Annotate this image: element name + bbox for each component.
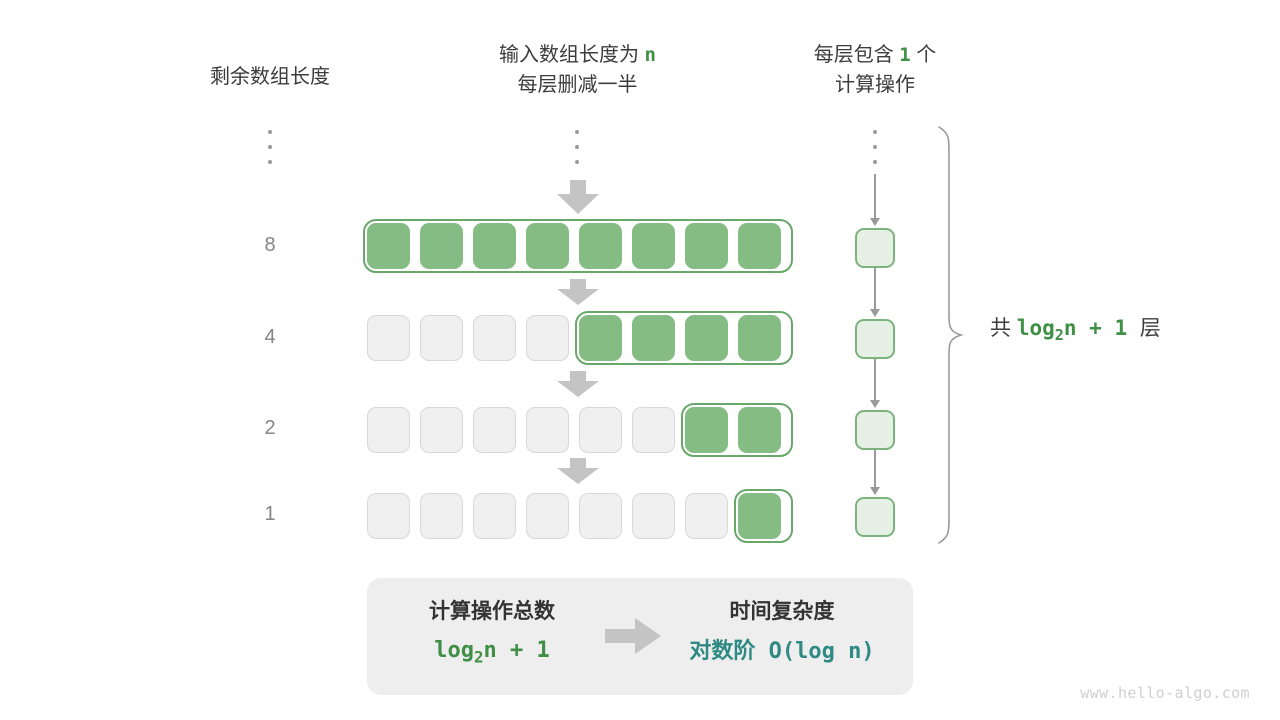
array-cell-body — [579, 223, 622, 269]
array-column-dots — [570, 130, 584, 164]
array-row-2 — [362, 402, 786, 458]
summary-time-complexity-value: 对数阶 O(log n) — [677, 637, 887, 666]
header-ops-suffix: 个 — [916, 44, 936, 66]
down-arrow-icon-3 — [557, 458, 599, 484]
array-cell-active — [415, 218, 468, 274]
operation-column-dots — [868, 130, 882, 164]
array-cell-empty — [680, 488, 733, 544]
level-count-formula: log2n + 1 — [1017, 316, 1140, 340]
operation-box-3 — [855, 410, 895, 450]
level-count-base: 2 — [1055, 326, 1064, 344]
dot-icon — [575, 130, 579, 134]
level-count-rest: n + 1 — [1064, 316, 1127, 340]
array-cell-empty — [362, 402, 415, 458]
array-cell-body — [473, 223, 516, 269]
header-ops-var: 1 — [899, 44, 910, 66]
array-cell-body — [738, 315, 781, 361]
array-cell-body — [632, 493, 675, 539]
array-cell-empty — [415, 488, 468, 544]
summary-total-ops-value: log2n + 1 — [387, 637, 597, 671]
op-connector-line-1 — [874, 268, 876, 310]
array-row-4 — [362, 310, 786, 366]
array-cell-empty — [362, 310, 415, 366]
dot-icon — [268, 160, 272, 164]
array-cell-empty — [415, 310, 468, 366]
summary-complexity-cn: 对数阶 — [689, 638, 755, 663]
level-count-prefix: 共 — [990, 317, 1011, 340]
level-label-dots — [263, 130, 277, 164]
header-ops-per-level-line2: 计算操作 — [765, 70, 985, 100]
down-arrow-icon-1 — [557, 279, 599, 305]
array-cell-body — [579, 315, 622, 361]
level-label-4: 4 — [240, 326, 300, 349]
down-arrow-icon-top — [557, 180, 599, 214]
array-row-8 — [362, 218, 786, 274]
operation-box-4 — [855, 497, 895, 537]
array-cell-active — [521, 218, 574, 274]
array-cell-body — [367, 493, 410, 539]
header-input-length: 输入数组长度为 n 每层删减一半 — [440, 40, 715, 100]
header-input-length-line2: 每层删减一半 — [440, 70, 715, 100]
op-arrowhead-icon-3 — [870, 487, 880, 495]
level-count-suffix: 层 — [1140, 317, 1161, 340]
level-label-1: 1 — [240, 503, 300, 526]
array-cell-body — [473, 407, 516, 453]
array-cell-active — [680, 218, 733, 274]
summary-log-rest: n + 1 — [484, 638, 550, 663]
summary-time-complexity: 时间复杂度 对数阶 O(log n) — [677, 596, 887, 666]
diagram-canvas: 剩余数组长度 输入数组长度为 n 每层删减一半 每层包含 1 个 计算操作 8 … — [0, 0, 1280, 720]
array-cell-empty — [627, 402, 680, 458]
dot-icon — [873, 130, 877, 134]
array-cell-active — [733, 402, 786, 458]
summary-total-ops-title: 计算操作总数 — [387, 596, 597, 628]
summary-complexity-big-o: O(log n) — [769, 639, 875, 664]
header-remaining-length-text: 剩余数组长度 — [210, 66, 330, 88]
op-arrowhead-icon-0 — [870, 218, 880, 226]
array-cell-empty — [574, 402, 627, 458]
dot-icon — [873, 160, 877, 164]
header-input-length-var: n — [645, 44, 656, 66]
array-cell-body — [685, 223, 728, 269]
array-cell-body — [685, 407, 728, 453]
op-connector-line-2 — [874, 359, 876, 401]
array-cell-active — [733, 488, 786, 544]
array-cell-active — [362, 218, 415, 274]
array-cell-body — [685, 493, 728, 539]
array-cell-body — [685, 315, 728, 361]
summary-log: log — [434, 638, 474, 663]
array-cell-active — [574, 310, 627, 366]
op-connector-line-3 — [874, 450, 876, 488]
summary-total-ops: 计算操作总数 log2n + 1 — [387, 596, 597, 671]
op-arrowhead-icon-1 — [870, 309, 880, 317]
level-count-log: log — [1017, 316, 1055, 340]
array-cell-empty — [627, 488, 680, 544]
dot-icon — [873, 145, 877, 149]
array-cell-body — [420, 407, 463, 453]
level-count-brace-icon — [935, 125, 965, 545]
array-cell-empty — [468, 402, 521, 458]
array-cell-empty — [574, 488, 627, 544]
array-cell-body — [420, 315, 463, 361]
op-arrowhead-icon-2 — [870, 400, 880, 408]
header-input-length-line1: 输入数组长度为 n — [440, 40, 715, 70]
op-connector-line-0 — [874, 174, 876, 220]
array-cell-empty — [468, 310, 521, 366]
array-cell-body — [632, 407, 675, 453]
array-cell-empty — [468, 488, 521, 544]
watermark: www.hello-algo.com — [1080, 684, 1250, 702]
dot-icon — [268, 145, 272, 149]
array-cell-body — [526, 407, 569, 453]
summary-log-base: 2 — [474, 647, 484, 666]
array-cell-body — [420, 493, 463, 539]
array-cell-active — [468, 218, 521, 274]
array-cell-body — [738, 407, 781, 453]
down-arrow-icon-2 — [557, 371, 599, 397]
header-ops-prefix: 每层包含 — [814, 44, 894, 66]
array-cell-empty — [362, 488, 415, 544]
level-count-annotation: 共 log2n + 1 层 — [990, 312, 1161, 344]
operation-box-2 — [855, 319, 895, 359]
dot-icon — [575, 145, 579, 149]
array-cell-active — [627, 218, 680, 274]
array-cell-body — [526, 493, 569, 539]
array-cell-empty — [415, 402, 468, 458]
array-cell-body — [526, 223, 569, 269]
array-cell-empty — [521, 310, 574, 366]
array-cell-active — [627, 310, 680, 366]
array-cell-body — [473, 493, 516, 539]
header-input-length-prefix: 输入数组长度为 — [499, 44, 639, 66]
header-remaining-length: 剩余数组长度 — [170, 62, 370, 92]
dot-icon — [575, 160, 579, 164]
array-cell-active — [680, 310, 733, 366]
header-ops-per-level-line1: 每层包含 1 个 — [765, 40, 985, 70]
array-cell-body — [367, 223, 410, 269]
dot-icon — [268, 130, 272, 134]
level-label-2: 2 — [240, 417, 300, 440]
array-cell-body — [738, 223, 781, 269]
array-row-1 — [362, 488, 786, 544]
array-cell-body — [579, 407, 622, 453]
array-cell-active — [574, 218, 627, 274]
header-ops-per-level: 每层包含 1 个 计算操作 — [765, 40, 985, 100]
summary-panel: 计算操作总数 log2n + 1 时间复杂度 对数阶 O(log n) — [367, 578, 913, 695]
operation-box-1 — [855, 228, 895, 268]
array-cell-body — [632, 223, 675, 269]
array-cell-body — [632, 315, 675, 361]
array-cell-body — [367, 407, 410, 453]
array-cell-body — [367, 315, 410, 361]
right-arrow-icon — [605, 618, 661, 654]
array-cell-empty — [521, 488, 574, 544]
array-cell-body — [420, 223, 463, 269]
array-cell-body — [473, 315, 516, 361]
array-cell-active — [680, 402, 733, 458]
array-cell-body — [526, 315, 569, 361]
summary-time-complexity-title: 时间复杂度 — [677, 596, 887, 628]
array-cell-active — [733, 310, 786, 366]
array-cell-body — [579, 493, 622, 539]
array-cell-active — [733, 218, 786, 274]
array-cell-body — [738, 493, 781, 539]
array-cell-empty — [521, 402, 574, 458]
level-label-8: 8 — [240, 234, 300, 257]
